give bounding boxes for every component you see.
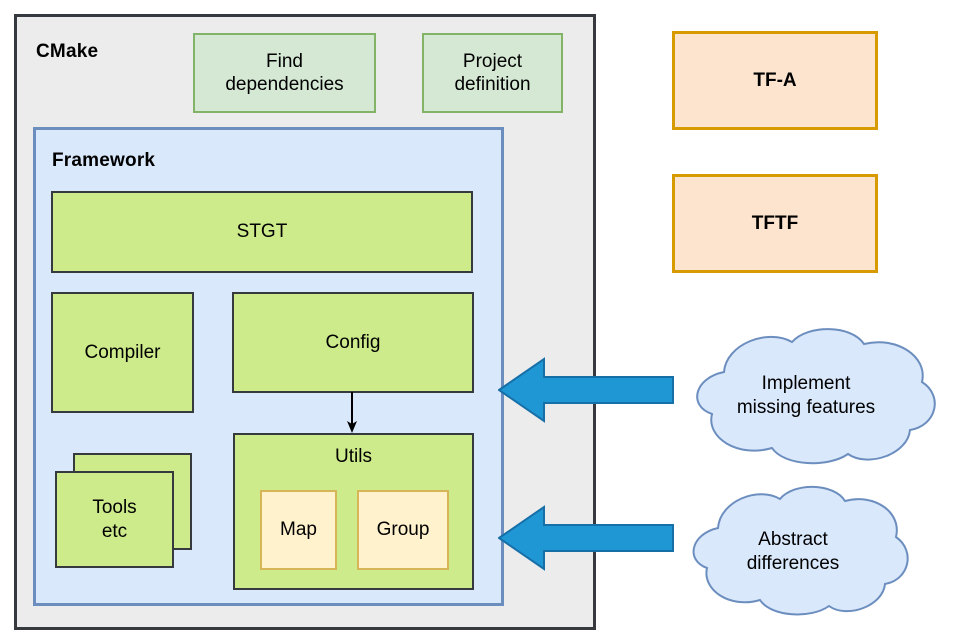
framework-label: Framework [52, 150, 155, 172]
group-box: Group [357, 490, 449, 570]
cmake-label: CMake [36, 41, 98, 63]
map-box: Map [260, 490, 337, 570]
stgt-box: STGT [51, 191, 473, 273]
abstract-differences-arrow-icon [498, 503, 674, 573]
config-to-utils-arrow-icon [345, 392, 359, 434]
find-dependencies-box: Find dependencies [193, 33, 376, 113]
diagram-canvas: CMake Find dependencies Project definiti… [0, 0, 964, 644]
tftf-box: TFTF [672, 174, 878, 273]
tools-box: Tools etc [55, 471, 174, 568]
implement-missing-features-arrow-icon [498, 355, 674, 425]
compiler-box: Compiler [51, 292, 194, 413]
tfa-box: TF-A [672, 31, 878, 130]
implement-missing-features-label: Implement missing features [690, 356, 922, 436]
project-definition-box: Project definition [422, 33, 563, 113]
abstract-differences-label: Abstract differences [690, 512, 896, 592]
config-box: Config [232, 292, 474, 393]
